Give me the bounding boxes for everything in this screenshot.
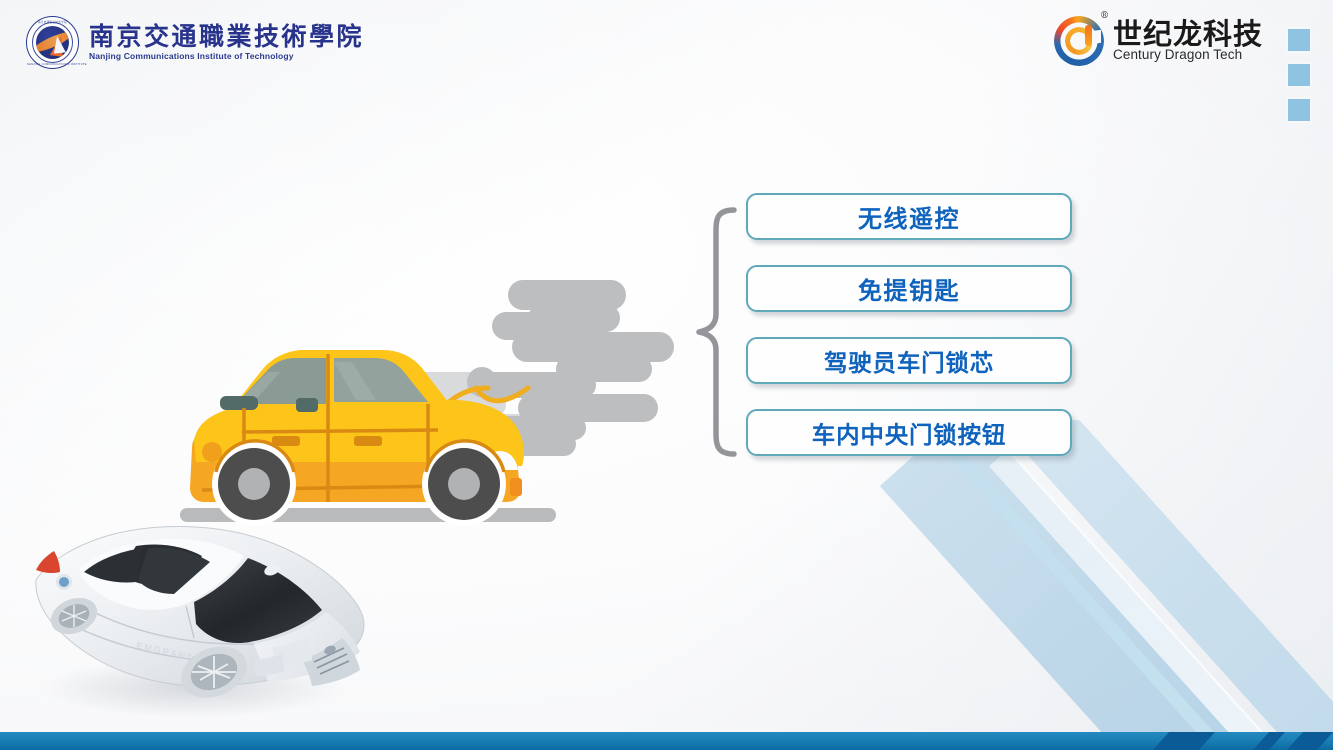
ribbon-band-3 <box>1021 420 1333 750</box>
feature-label: 车内中央门锁按钮 <box>812 416 1006 450</box>
decor-square-1 <box>1286 27 1312 53</box>
front-door-handle <box>354 436 382 446</box>
emblem-sail-white <box>52 35 66 53</box>
feature-label: 驾驶员车门锁芯 <box>824 344 994 378</box>
university-name-block: 南京交通職業技術學院 Nanjing Communications Instit… <box>89 24 364 61</box>
feature-list: 无线遥控 免提钥匙 驾驶员车门锁芯 车内中央门锁按钮 <box>746 193 1072 456</box>
feature-label: 免提钥匙 <box>858 271 960 306</box>
left-curly-brace <box>694 206 738 458</box>
company-name-cn-wrap: 世纪龙科技 ® <box>1113 19 1263 50</box>
decor-square-3 <box>1286 97 1312 123</box>
feature-box-interior-central-lock-button[interactable]: 车内中央门锁按钮 <box>746 409 1072 456</box>
footer-accent-3 <box>1287 732 1333 750</box>
emblem-micro-text-top: 南京交通职业技术学院 <box>27 20 78 24</box>
company-brand: 世纪龙科技 ® Century Dragon Tech <box>1054 16 1263 66</box>
rear-door-handle <box>272 436 300 446</box>
company-name-cn: 世纪龙科技 <box>1113 17 1263 51</box>
silver-sedan-photo: EMGRAND <box>18 520 378 720</box>
slide-header: 南京交通职业技术学院 NANJING COMMUNICATIONS INSTIT… <box>0 0 1333 78</box>
university-brand: 南京交通职业技术学院 NANJING COMMUNICATIONS INSTIT… <box>26 16 364 69</box>
yellow-car-with-open-hood-illustration <box>176 276 696 538</box>
front-marker-light <box>510 478 522 496</box>
rear-lamp <box>202 442 222 462</box>
ribbon-band-2 <box>989 449 1333 750</box>
footer-accent-1 <box>1153 732 1215 750</box>
university-name-en: Nanjing Communications Institute of Tech… <box>89 51 364 61</box>
corner-ribbon-decor <box>863 420 1333 750</box>
rear-emblem-inner <box>59 577 69 587</box>
feature-box-driver-door-lock-cylinder[interactable]: 驾驶员车门锁芯 <box>746 337 1072 384</box>
decor-square-2 <box>1286 62 1312 88</box>
emblem-micro-text-bottom: NANJING COMMUNICATIONS INSTITUTE <box>27 63 78 66</box>
registered-trademark-icon: ® <box>1100 12 1110 22</box>
decor-square-stack <box>1286 27 1312 123</box>
taillight <box>36 551 60 573</box>
emblem-disc <box>36 26 69 59</box>
footer-accent-2 <box>1253 732 1285 750</box>
logo-tail-stroke <box>1085 25 1092 46</box>
nanjing-communications-institute-emblem-icon: 南京交通职业技术学院 NANJING COMMUNICATIONS INSTIT… <box>26 16 79 69</box>
feature-label: 无线遥控 <box>858 199 960 234</box>
century-dragon-tech-logo-icon <box>1054 16 1104 66</box>
ribbon-band-1 <box>880 420 1333 750</box>
university-name-cn: 南京交通職業技術學院 <box>89 24 364 50</box>
ribbon-band-4 <box>904 420 1333 750</box>
footer-bar <box>0 732 1333 750</box>
feature-box-wireless-remote[interactable]: 无线遥控 <box>746 193 1072 240</box>
feature-box-handsfree-key[interactable]: 免提钥匙 <box>746 265 1072 312</box>
company-name-block: 世纪龙科技 ® Century Dragon Tech <box>1113 19 1263 64</box>
slide-canvas: 南京交通职业技术学院 NANJING COMMUNICATIONS INSTIT… <box>0 0 1333 750</box>
